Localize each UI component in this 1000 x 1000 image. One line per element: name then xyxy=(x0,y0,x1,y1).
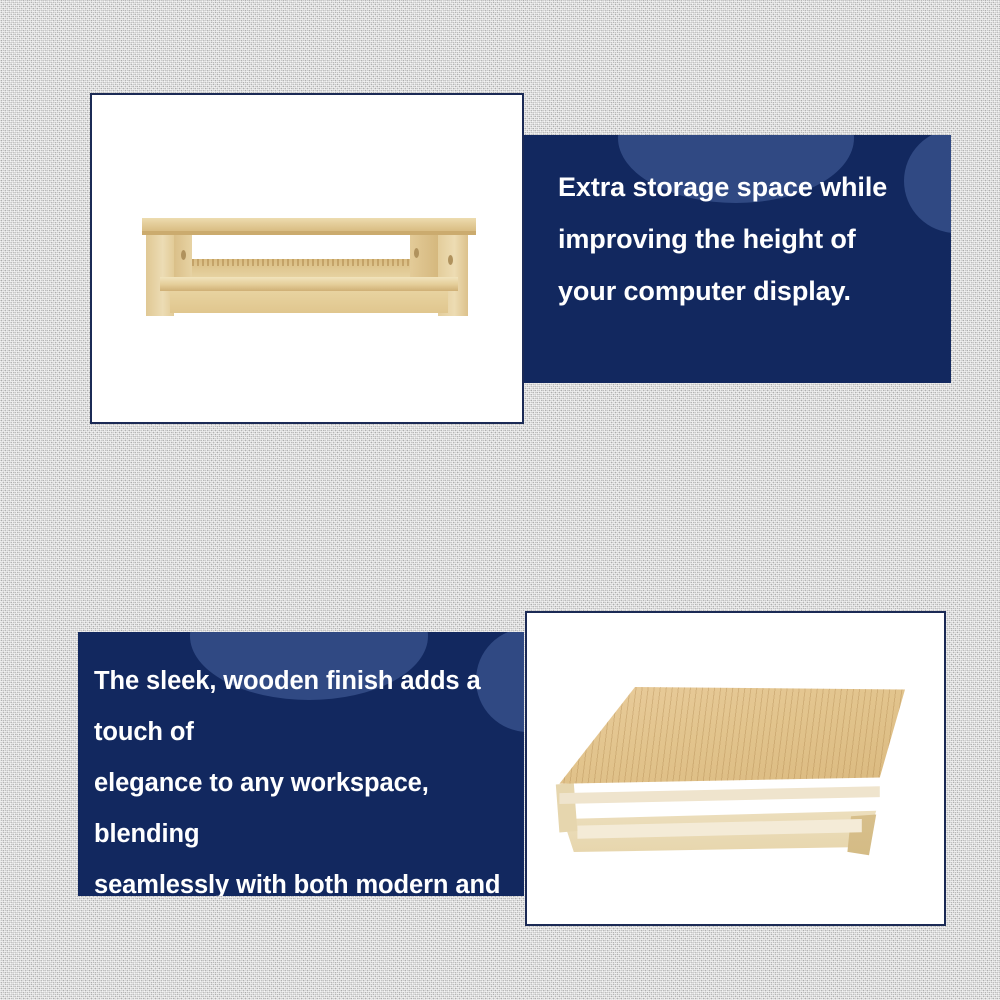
caption-line: elegance to any workspace, blending xyxy=(94,758,512,860)
stand-cable-slot xyxy=(192,235,410,259)
caption-line: Extra storage space while xyxy=(558,161,937,213)
caption-line: improving the height of xyxy=(558,213,937,265)
product-image-card-front-view xyxy=(90,93,524,424)
product-image-card-angled-view xyxy=(525,611,946,926)
feature-caption-panel-top: Extra storage space while improving the … xyxy=(524,135,951,383)
stand-screw-hole xyxy=(181,250,186,260)
stand-top-plank-edge xyxy=(142,231,476,235)
monitor-stand-angled-view-illustration xyxy=(545,687,905,859)
caption-line: your computer display. xyxy=(558,265,937,317)
feature-caption-text-top: Extra storage space while improving the … xyxy=(524,135,951,317)
stand-screw-hole xyxy=(414,248,419,258)
stand-deck-grain xyxy=(192,259,410,266)
feature-caption-panel-bottom: The sleek, wooden finish adds a touch of… xyxy=(78,632,524,896)
stand-top-plank xyxy=(142,218,476,231)
monitor-stand-front-view-illustration xyxy=(142,218,476,316)
stand-lower-shelf xyxy=(170,291,448,313)
feature-caption-text-bottom: The sleek, wooden finish adds a touch of… xyxy=(78,632,524,896)
caption-line: seamlessly with both modern and xyxy=(94,860,512,896)
stand-front-rail xyxy=(160,277,458,291)
product-feature-collage: Extra storage space while improving the … xyxy=(0,0,1000,1000)
stand-screw-hole xyxy=(448,255,453,265)
caption-line: The sleek, wooden finish adds a touch of xyxy=(94,656,512,758)
